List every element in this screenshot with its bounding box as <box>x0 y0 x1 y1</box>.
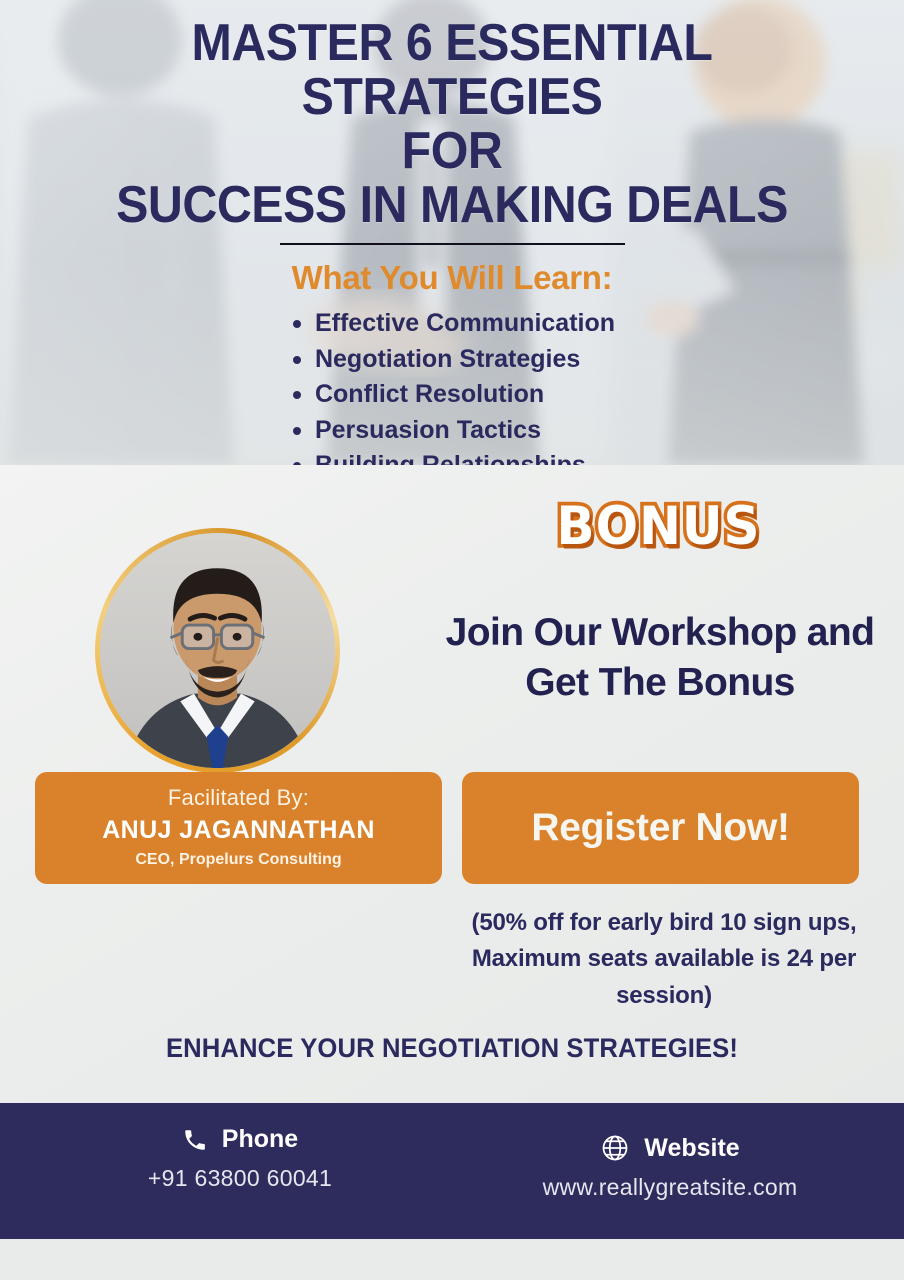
learn-list: Effective Communication Negotiation Stra… <box>289 306 615 465</box>
register-button[interactable]: Register Now! <box>462 772 859 884</box>
learn-heading: What You Will Learn: <box>0 259 904 297</box>
footer-phone-label: Phone <box>222 1125 298 1154</box>
phone-icon <box>182 1127 208 1153</box>
facilitator-avatar-ring <box>95 528 340 773</box>
workshop-poster: MASTER 6 ESSENTIAL STRATEGIES FOR SUCCES… <box>0 0 904 1280</box>
list-item: Conflict Resolution <box>289 377 615 413</box>
join-heading: Join Our Workshop and Get The Bonus <box>430 608 890 708</box>
main-section: BONUS Join Our Workshop and Get The Bonu… <box>0 465 904 1103</box>
title-divider <box>280 243 625 245</box>
footer-website-head: Website <box>480 1133 860 1163</box>
list-item: Building Relationships <box>289 448 615 465</box>
facilitator-label: Facilitated By: <box>35 785 442 811</box>
title-line-2: FOR <box>39 124 865 178</box>
footer-website-value[interactable]: www.reallygreatsite.com <box>480 1174 860 1201</box>
title-line-1: MASTER 6 ESSENTIAL STRATEGIES <box>39 16 865 124</box>
footer-phone-value[interactable]: +91 63800 60041 <box>60 1165 420 1192</box>
tagline: ENHANCE YOUR NEGOTIATION STRATEGIES! <box>23 1033 882 1064</box>
footer-phone-head: Phone <box>60 1125 420 1154</box>
offer-disclaimer: (50% off for early bird 10 sign ups, Max… <box>468 905 860 1014</box>
footer-website-label: Website <box>644 1134 739 1163</box>
bonus-label: BONUS <box>556 495 760 556</box>
page-title: MASTER 6 ESSENTIAL STRATEGIES FOR SUCCES… <box>32 16 873 232</box>
facilitator-card: Facilitated By: ANUJ JAGANNATHAN CEO, Pr… <box>35 772 442 884</box>
footer-phone-block: Phone +91 63800 60041 <box>60 1103 420 1261</box>
hero-section: MASTER 6 ESSENTIAL STRATEGIES FOR SUCCES… <box>0 0 904 465</box>
facilitator-role: CEO, Propelurs Consulting <box>35 851 442 869</box>
list-item: Effective Communication <box>289 306 615 342</box>
list-item: Persuasion Tactics <box>289 413 615 449</box>
facilitator-name: ANUJ JAGANNATHAN <box>35 816 442 845</box>
avatar <box>100 533 335 768</box>
title-line-3: SUCCESS IN MAKING DEALS <box>39 178 865 232</box>
globe-icon <box>600 1133 630 1163</box>
list-item: Negotiation Strategies <box>289 342 615 378</box>
bonus-badge: BONUS <box>536 497 781 555</box>
footer-contact-bar: Phone +91 63800 60041 <box>0 1103 904 1239</box>
bottom-strip <box>0 1239 904 1280</box>
